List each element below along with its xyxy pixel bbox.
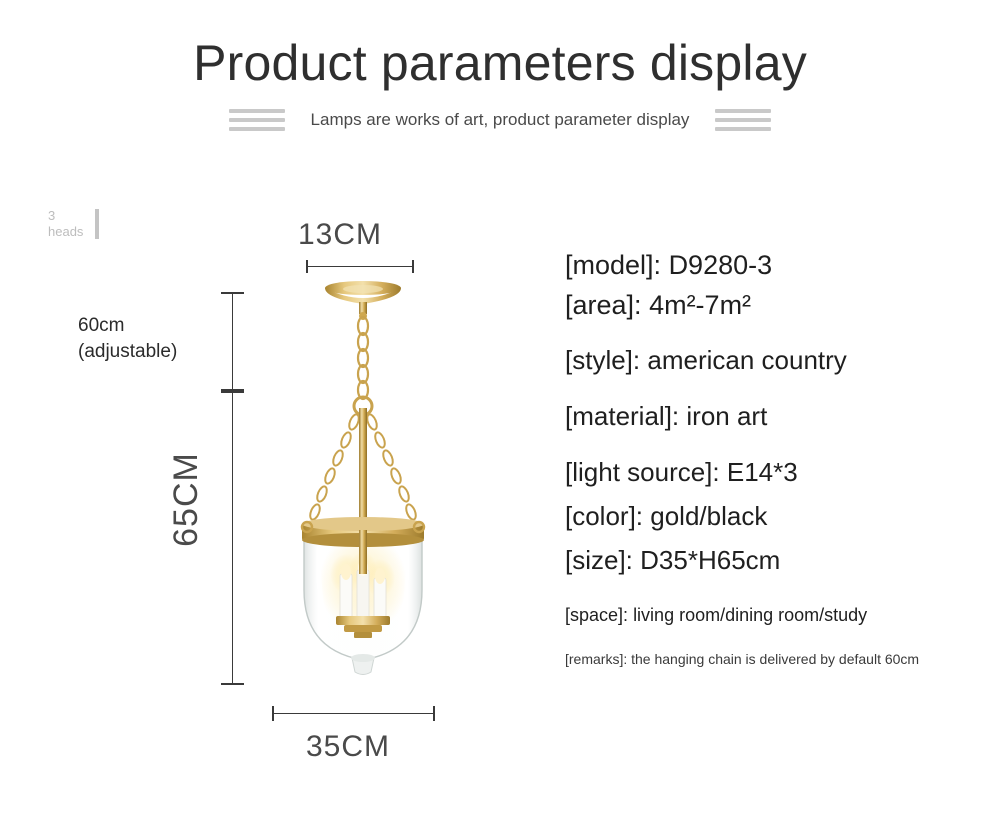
dimension-label-height: 65CM bbox=[167, 452, 206, 547]
parameter-value-color: gold/black bbox=[650, 501, 767, 531]
heads-badge-count: 3 bbox=[48, 208, 55, 223]
dimension-label-drop-value: 60cm bbox=[78, 315, 124, 336]
three-bars-decoration-right-icon bbox=[715, 109, 771, 131]
parameter-row-size: [size]: D35*H65cm bbox=[565, 539, 995, 581]
parameter-label-remarks: [remarks]: bbox=[565, 651, 627, 667]
product-parameters-page: Product parameters display Lamps are wor… bbox=[0, 0, 1000, 818]
hanging-chain-icon bbox=[358, 317, 368, 399]
parameter-row-space: [space]: living room/dining room/study bbox=[565, 601, 995, 630]
pendant-lamp-image bbox=[258, 278, 468, 698]
parameter-label-space: [space]: bbox=[565, 605, 628, 625]
parameter-label-material: [material]: bbox=[565, 401, 679, 431]
dimension-line-bottom-width bbox=[272, 713, 435, 714]
parameter-value-material: iron art bbox=[686, 401, 767, 431]
parameter-row-style: [style]: american country bbox=[565, 339, 995, 381]
parameter-value-style: american country bbox=[647, 345, 846, 375]
parameter-label-color: [color]: bbox=[565, 501, 643, 531]
parameter-value-light-source: E14*3 bbox=[727, 457, 798, 487]
parameter-row-material: [material]: iron art bbox=[565, 395, 995, 437]
heads-badge-text: 3 heads bbox=[48, 208, 83, 241]
dimension-label-drop: 60cm (adjustable) bbox=[78, 313, 177, 364]
parameter-label-light-source: [light source]: bbox=[565, 457, 720, 487]
subtitle-row: Lamps are works of art, product paramete… bbox=[0, 109, 1000, 131]
dimension-line-drop bbox=[232, 292, 233, 391]
dimension-label-bottom-width: 35CM bbox=[306, 730, 390, 764]
page-subtitle: Lamps are works of art, product paramete… bbox=[311, 110, 690, 130]
ceiling-canopy-icon bbox=[325, 281, 401, 320]
dimension-label-drop-note: (adjustable) bbox=[78, 341, 177, 362]
parameter-row-light-source: [light source]: E14*3 bbox=[565, 451, 995, 493]
parameter-label-area: [area]: bbox=[565, 290, 642, 320]
parameter-label-size: [size]: bbox=[565, 545, 633, 575]
heads-badge-bar-icon bbox=[95, 209, 99, 239]
parameter-list: [model]: D9280-3 [area]: 4m²-7m² [style]… bbox=[565, 246, 995, 670]
parameter-value-space: living room/dining room/study bbox=[633, 605, 867, 625]
parameter-row-area: [area]: 4m²-7m² bbox=[565, 286, 995, 324]
heads-badge-unit: heads bbox=[48, 224, 83, 239]
heads-badge: 3 heads bbox=[48, 208, 99, 241]
dimension-line-top-width bbox=[306, 266, 414, 267]
header: Product parameters display Lamps are wor… bbox=[0, 0, 1000, 131]
center-rod-icon bbox=[359, 408, 367, 530]
glass-finial-icon bbox=[351, 654, 375, 675]
dimension-label-top-width: 13CM bbox=[298, 218, 382, 252]
dimension-line-height bbox=[232, 391, 233, 685]
parameter-label-style: [style]: bbox=[565, 345, 640, 375]
parameter-value-remarks: the hanging chain is delivered by defaul… bbox=[631, 651, 919, 667]
parameter-value-area: 4m²-7m² bbox=[649, 290, 751, 320]
product-diagram: 3 heads 13CM 60cm (adjustable) 65CM 35CM bbox=[0, 180, 520, 800]
parameter-value-model: D9280-3 bbox=[669, 250, 773, 280]
page-title: Product parameters display bbox=[0, 36, 1000, 91]
three-bars-decoration-left-icon bbox=[229, 109, 285, 131]
parameter-value-size: D35*H65cm bbox=[640, 545, 780, 575]
parameter-row-color: [color]: gold/black bbox=[565, 495, 995, 537]
parameter-row-model: [model]: D9280-3 bbox=[565, 246, 995, 284]
parameter-row-remarks: [remarks]: the hanging chain is delivere… bbox=[565, 648, 995, 670]
parameter-label-model: [model]: bbox=[565, 250, 661, 280]
